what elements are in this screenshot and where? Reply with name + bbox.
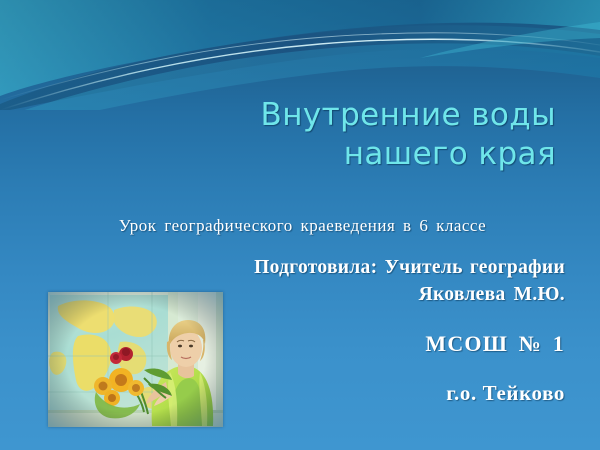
wave-decoration bbox=[0, 0, 600, 110]
teacher-photo bbox=[48, 292, 223, 427]
teacher-photo-image bbox=[48, 292, 223, 427]
lesson-description: Урок географического краеведения в 6 кла… bbox=[40, 216, 565, 236]
author-role-line: Подготовила: Учитель географии bbox=[40, 257, 565, 279]
presentation-title-slide: Внутренние воды нашего края Урок географ… bbox=[0, 0, 600, 450]
slide-title: Внутренние воды нашего края bbox=[40, 96, 556, 175]
